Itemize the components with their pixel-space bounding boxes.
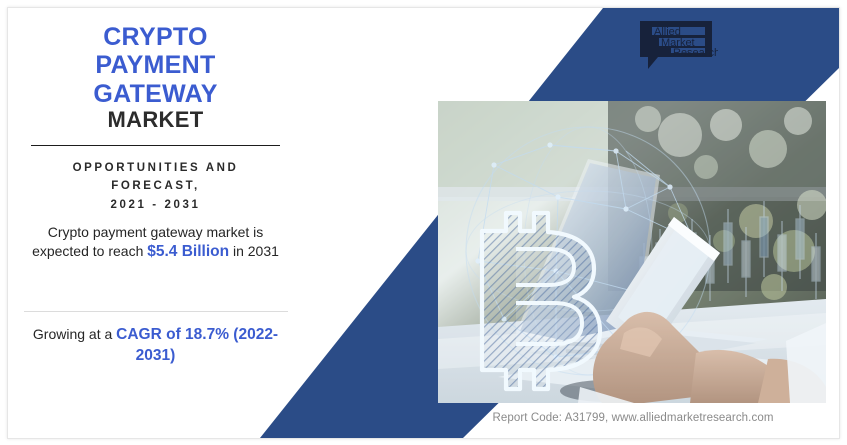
report-code-footer: Report Code: A31799, www.alliedmarketres… [438,406,828,430]
market-value-statement: Crypto payment gateway market is expecte… [23,223,289,261]
cagr-section: Growing at a CAGR of 18.7% (2022-2031) [14,311,297,367]
title-divider [31,145,280,146]
title-line-2: PAYMENT [14,51,297,79]
left-text-panel: CRYPTO PAYMENT GATEWAY MARKET OPPORTUNIT… [14,8,297,438]
allied-market-research-logo[interactable]: Allied Market Research [632,19,718,71]
page-title: CRYPTO PAYMENT GATEWAY MARKET [14,8,297,133]
subtitle: OPPORTUNITIES AND FORECAST, 2021 - 2031 [22,159,290,215]
subtitle-line-3: 2021 - 2031 [22,196,290,215]
subtitle-line-2: FORECAST, [22,177,290,196]
title-line-1: CRYPTO [14,23,297,51]
subtitle-line-1: OPPORTUNITIES AND [22,159,290,178]
cagr-statement: Growing at a CAGR of 18.7% (2022-2031) [21,325,291,367]
title-line-4: MARKET [14,108,297,133]
cagr-divider [24,311,288,312]
cagr-text-before: Growing at a [33,326,116,342]
title-line-3: GATEWAY [14,80,297,108]
report-infographic-card: CRYPTO PAYMENT GATEWAY MARKET OPPORTUNIT… [7,7,840,439]
cagr-highlight: CAGR of 18.7% (2022-2031) [116,326,278,364]
market-value-highlight: $5.4 Billion [147,243,229,260]
market-value-text-after: in 2031 [229,243,279,259]
logo-line-3: Research [673,47,718,59]
hero-photo [438,101,826,403]
